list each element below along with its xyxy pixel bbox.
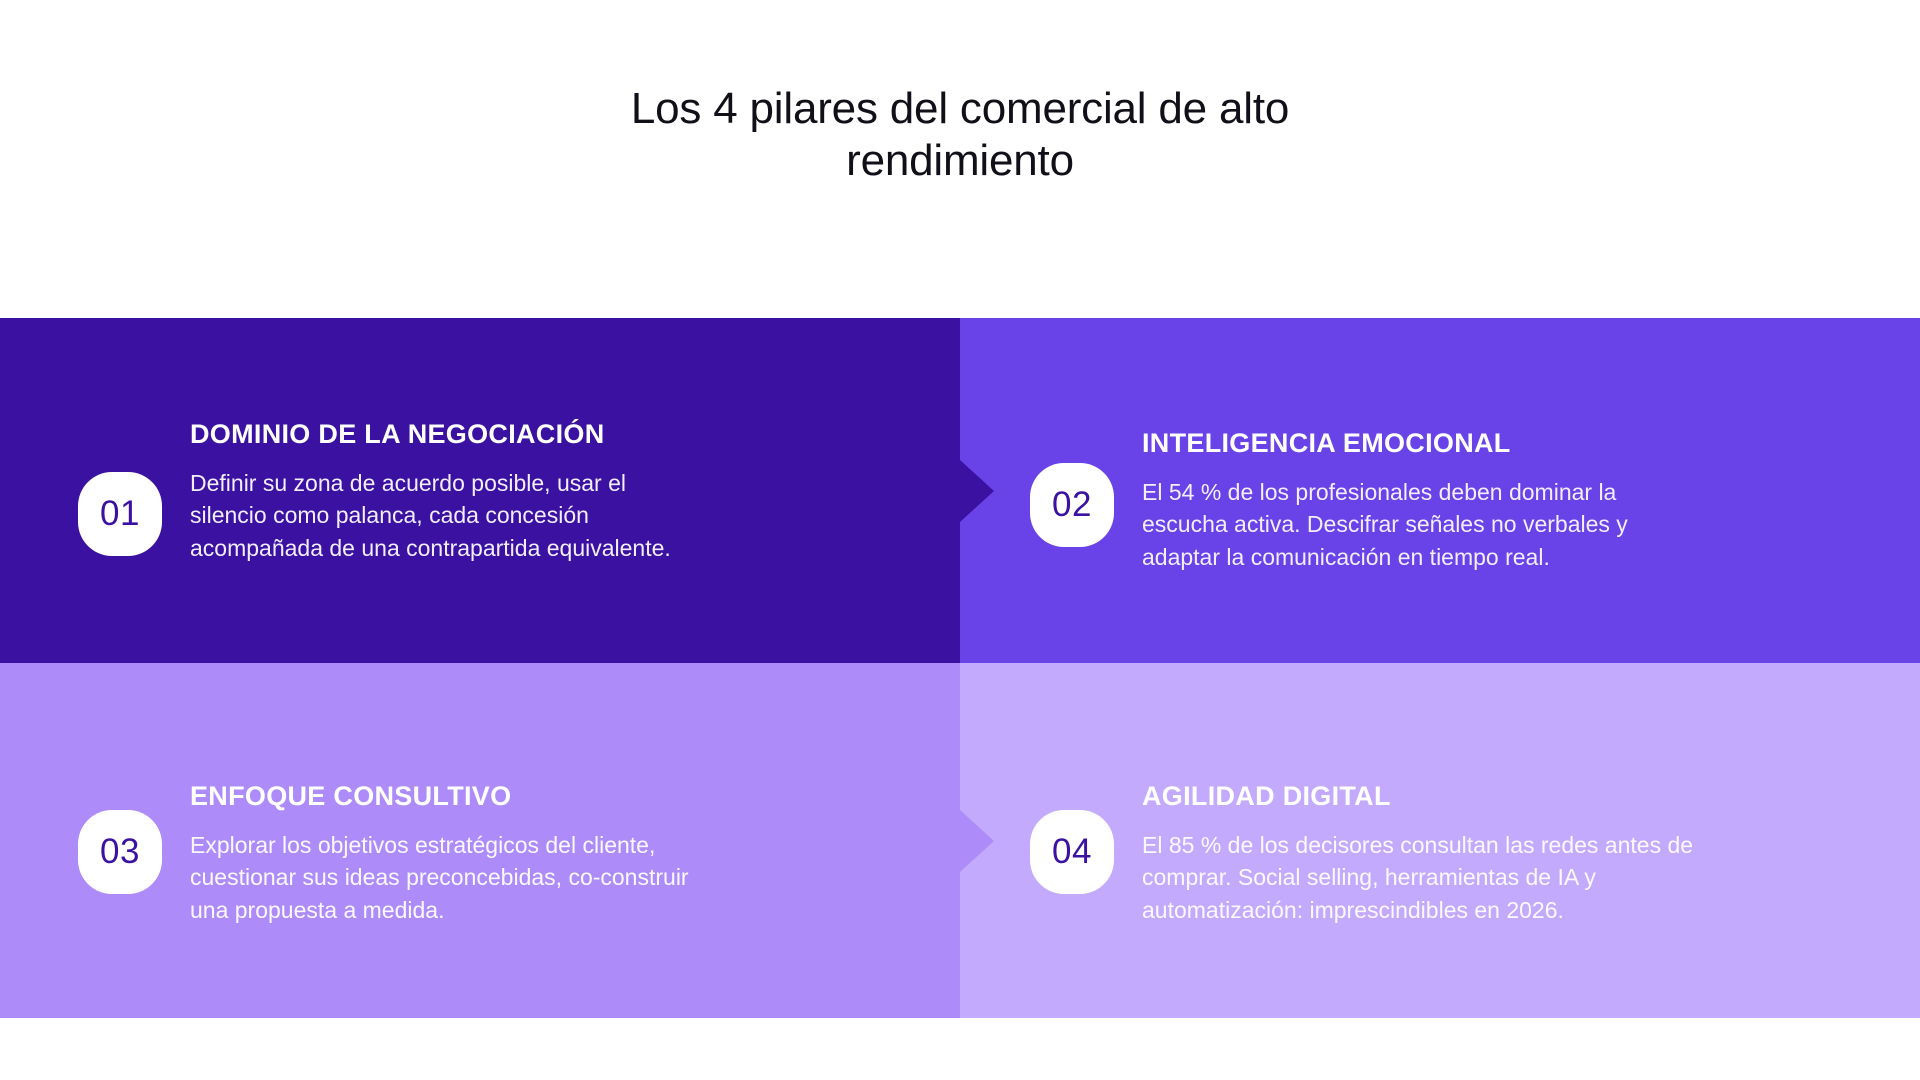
arrow-right-icon-03 — [960, 810, 994, 872]
pillar-number-badge-04: 04 — [1030, 810, 1114, 894]
pillar-number-badge-01: 01 — [78, 472, 162, 556]
pillar-heading-02: INTELIGENCIA EMOCIONAL — [1142, 426, 1652, 460]
pillar-heading-01: DOMINIO DE LA NEGOCIACIÓN — [190, 417, 690, 451]
pillar-text-03: ENFOQUE CONSULTIVO Explorar los objetivo… — [190, 755, 700, 927]
pillar-card-04[interactable]: 04 AGILIDAD DIGITAL El 85 % de los decis… — [960, 663, 1920, 1018]
pillars-grid: 01 DOMINIO DE LA NEGOCIACIÓN Definir su … — [0, 318, 1920, 1018]
pillar-text-01: DOMINIO DE LA NEGOCIACIÓN Definir su zon… — [190, 417, 690, 565]
pillar-card-03[interactable]: 03 ENFOQUE CONSULTIVO Explorar los objet… — [0, 663, 960, 1018]
arrow-right-icon-01 — [960, 460, 994, 522]
pillar-text-04: AGILIDAD DIGITAL El 85 % de los decisore… — [1142, 755, 1722, 927]
page-title: Los 4 pilares del comercial de alto rend… — [520, 83, 1400, 187]
pillar-heading-03: ENFOQUE CONSULTIVO — [190, 779, 700, 813]
pillar-card-01[interactable]: 01 DOMINIO DE LA NEGOCIACIÓN Definir su … — [0, 318, 960, 663]
infographic-page: Los 4 pilares del comercial de alto rend… — [0, 0, 1920, 1080]
pillar-number-badge-03: 03 — [78, 810, 162, 894]
pillar-card-02-inner: 02 INTELIGENCIA EMOCIONAL El 54 % de los… — [960, 408, 1920, 574]
pillar-body-04: El 85 % de los decisores consultan las r… — [1142, 829, 1722, 927]
pillar-card-04-inner: 04 AGILIDAD DIGITAL El 85 % de los decis… — [960, 755, 1920, 927]
pillar-heading-04: AGILIDAD DIGITAL — [1142, 779, 1722, 813]
pillar-text-02: INTELIGENCIA EMOCIONAL El 54 % de los pr… — [1142, 408, 1652, 574]
pillar-body-01: Definir su zona de acuerdo posible, usar… — [190, 467, 690, 565]
pillar-number-badge-02: 02 — [1030, 463, 1114, 547]
pillar-body-02: El 54 % de los profesionales deben domin… — [1142, 476, 1652, 574]
pillar-body-03: Explorar los objetivos estratégicos del … — [190, 829, 700, 927]
pillar-card-02[interactable]: 02 INTELIGENCIA EMOCIONAL El 54 % de los… — [960, 318, 1920, 663]
pillar-card-03-inner: 03 ENFOQUE CONSULTIVO Explorar los objet… — [0, 755, 960, 927]
page-title-container: Los 4 pilares del comercial de alto rend… — [0, 54, 1920, 217]
pillar-card-01-inner: 01 DOMINIO DE LA NEGOCIACIÓN Definir su … — [0, 417, 960, 565]
